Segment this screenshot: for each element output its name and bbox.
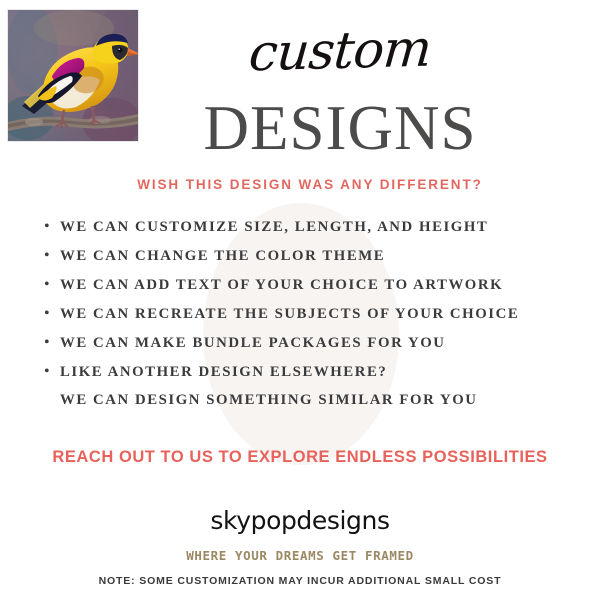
brand-tagline: WHERE YOUR DREAMS GET FRAMED (100, 548, 500, 563)
list-item: • WE CAN CUSTOMIZE SIZE, LENGTH, AND HEI… (44, 212, 584, 241)
list-item: • LIKE ANOTHER DESIGN ELSEWHERE? (44, 357, 584, 386)
bullet-dot-icon: • (44, 328, 60, 357)
bullet-dot-icon: • (44, 357, 60, 386)
call-to-action-text: REACH OUT TO US TO EXPLORE ENDLESS POSSI… (20, 448, 580, 467)
goldfinch-painting-icon (8, 10, 138, 141)
list-item-label: WE CAN MAKE BUNDLE PACKAGES FOR YOU (60, 329, 446, 358)
artwork-thumbnail[interactable] (8, 10, 138, 141)
feature-list: • WE CAN CUSTOMIZE SIZE, LENGTH, AND HEI… (44, 212, 584, 415)
promo-poster: custom DESIGNS WISH THIS DESIGN WAS ANY … (0, 0, 600, 600)
subtitle-question: WISH THIS DESIGN WAS ANY DIFFERENT? (60, 177, 560, 192)
list-item-label: WE CAN ADD TEXT OF YOUR CHOICE TO ARTWOR… (60, 271, 503, 300)
list-item-label: WE CAN CUSTOMIZE SIZE, LENGTH, AND HEIGH… (60, 213, 488, 242)
list-item-label: LIKE ANOTHER DESIGN ELSEWHERE? (60, 358, 387, 387)
list-item-label: WE CAN DESIGN SOMETHING SIMILAR FOR YOU (60, 386, 478, 415)
bullet-dot-icon: • (44, 270, 60, 299)
list-item: • WE CAN CHANGE THE COLOR THEME (44, 241, 584, 270)
brand-name: skypopdesigns (100, 506, 500, 535)
list-item-continuation: WE CAN DESIGN SOMETHING SIMILAR FOR YOU (44, 386, 584, 415)
script-headline: custom (148, 21, 533, 82)
footnote-disclaimer: NOTE: SOME CUSTOMIZATION MAY INCUR ADDIT… (50, 575, 550, 587)
bullet-dot-icon: • (44, 241, 60, 270)
serif-headline: DESIGNS (130, 97, 550, 160)
list-item-label: WE CAN CHANGE THE COLOR THEME (60, 242, 385, 271)
list-item: • WE CAN ADD TEXT OF YOUR CHOICE TO ARTW… (44, 270, 584, 299)
bullet-dot-icon: • (44, 299, 60, 328)
list-item: • WE CAN MAKE BUNDLE PACKAGES FOR YOU (44, 328, 584, 357)
list-item-label: WE CAN RECREATE THE SUBJECTS OF YOUR CHO… (60, 300, 519, 329)
bullet-dot-icon: • (44, 212, 60, 241)
list-item: • WE CAN RECREATE THE SUBJECTS OF YOUR C… (44, 299, 584, 328)
